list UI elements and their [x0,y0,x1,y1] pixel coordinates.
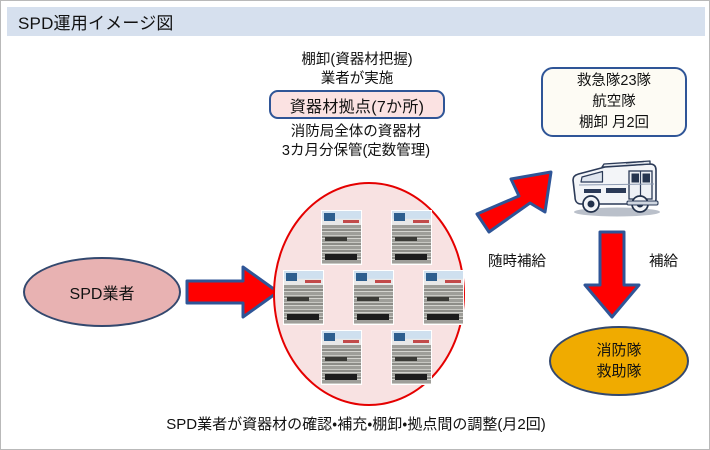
unit-box-line3: 棚卸 月2回 [579,113,649,134]
depot-circle [273,182,465,406]
depot-document-icon [353,270,394,325]
page-title: SPD運用イメージ図 [7,9,174,34]
depot-document-icon [391,210,432,265]
depot-document-icon [391,330,432,385]
teams-ellipse[interactable]: 消防隊 救助隊 [549,326,689,396]
supply-label: 補給 [649,253,678,272]
depot-box[interactable]: 資器材拠点(7か所) [269,90,445,119]
teams-line1: 消防隊 [596,340,641,361]
spd-vendor-label: SPD業者 [70,280,135,304]
caption: SPD業者が資器材の確認・補充・棚卸・拠点間の調整(月2回) [1,413,710,434]
storage-note-line2: 3カ月分保管(定数管理) [256,142,456,161]
unit-box[interactable]: 救急隊23隊 航空隊 棚卸 月2回 [541,67,687,137]
storage-note: 消防局全体の資器材 3カ月分保管(定数管理) [256,123,456,161]
inventory-note: 棚卸(資器材把握) 業者が実施 [269,51,445,89]
teams-line2: 救助隊 [596,361,641,382]
unit-box-line1: 救急隊23隊 [577,71,651,92]
depot-document-icon [321,210,362,265]
arrow-down-icon [581,229,643,321]
slide-canvas: SPD運用イメージ図 棚卸(資器材把握) 業者が実施 資器材拠点(7か所) 消防… [0,0,710,450]
storage-note-line1: 消防局全体の資器材 [256,123,456,142]
arrow-up-right-icon [471,166,557,238]
ambulance-icon [556,149,676,221]
title-bar: SPD運用イメージ図 [7,7,705,36]
supply-anytime-label: 随時補給 [488,253,546,272]
inventory-note-line2: 業者が実施 [269,70,445,89]
depot-document-icon [283,270,324,325]
depot-box-label: 資器材拠点(7か所) [290,93,425,117]
spd-vendor-ellipse[interactable]: SPD業者 [23,257,181,327]
inventory-note-line1: 棚卸(資器材把握) [269,51,445,70]
unit-box-line2: 航空隊 [592,92,636,113]
depot-document-icon [423,270,464,325]
depot-document-icon [321,330,362,385]
arrow-right-icon [185,263,281,321]
